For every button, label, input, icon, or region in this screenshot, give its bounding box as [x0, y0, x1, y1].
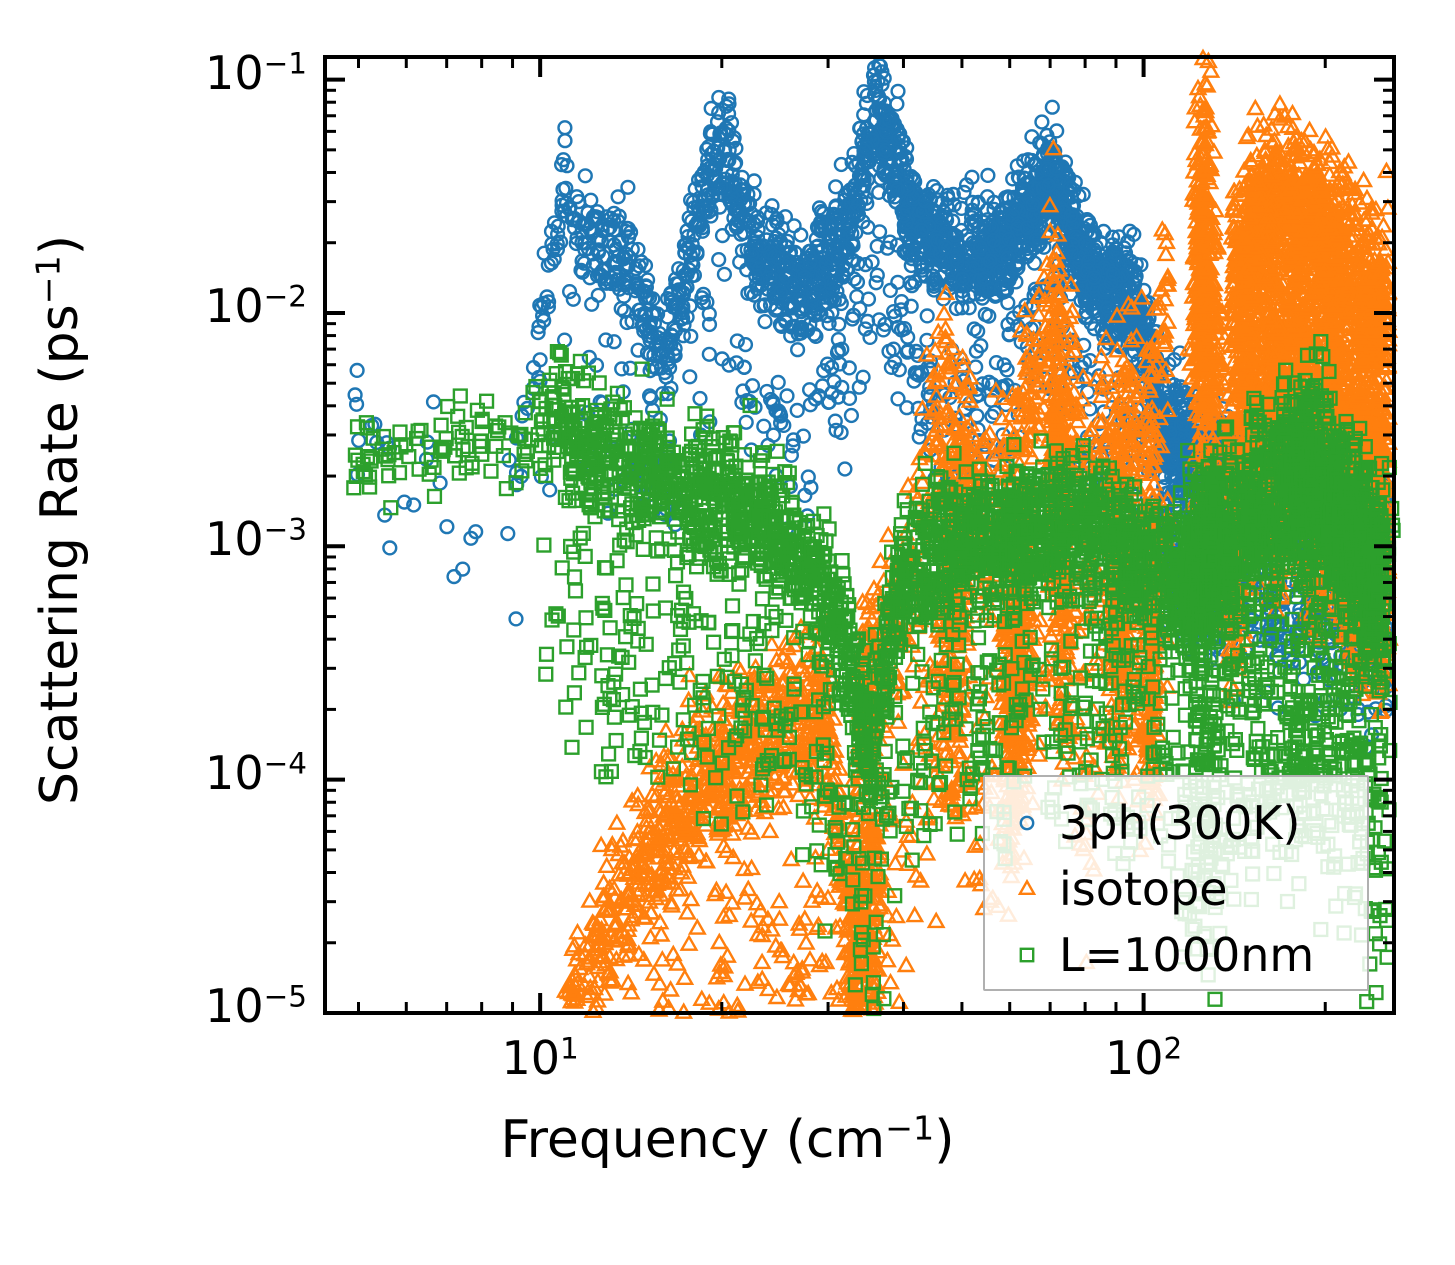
legend-entry-isotope[interactable]: isotope: [995, 859, 1228, 919]
legend-label: isotope: [1059, 862, 1228, 916]
triangle-marker-icon: [995, 872, 1059, 906]
legend-label: L=1000nm: [1059, 928, 1314, 982]
y-tick-label-1: 10−2: [205, 279, 307, 333]
y-tick-label-0: 10−1: [205, 46, 307, 100]
figure-canvas: Scattering Rate (ps−1) Frequency (cm−1) …: [0, 0, 1455, 1265]
x-tick-label-0: 101: [440, 1031, 640, 1085]
y-axis-label-container: Scattering Rate (ps−1): [0, 0, 120, 1040]
y-tick-label-2: 10−3: [205, 512, 307, 566]
x-tick-label-1: 102: [1044, 1031, 1244, 1085]
legend-entry-3ph-300k-[interactable]: 3ph(300K): [995, 793, 1300, 853]
y-tick-label-4: 10−5: [205, 979, 307, 1033]
circle-marker-icon: [995, 806, 1059, 840]
x-axis-label: Frequency (cm−1): [0, 1110, 1455, 1170]
y-tick-label-3: 10−4: [205, 746, 307, 800]
legend-label: 3ph(300K): [1059, 796, 1300, 850]
square-marker-icon: [995, 938, 1059, 972]
legend-entry-l-1000nm[interactable]: L=1000nm: [995, 925, 1314, 985]
y-axis-label: Scattering Rate (ps−1): [30, 235, 90, 805]
legend[interactable]: 3ph(300K)isotopeL=1000nm: [983, 775, 1369, 991]
